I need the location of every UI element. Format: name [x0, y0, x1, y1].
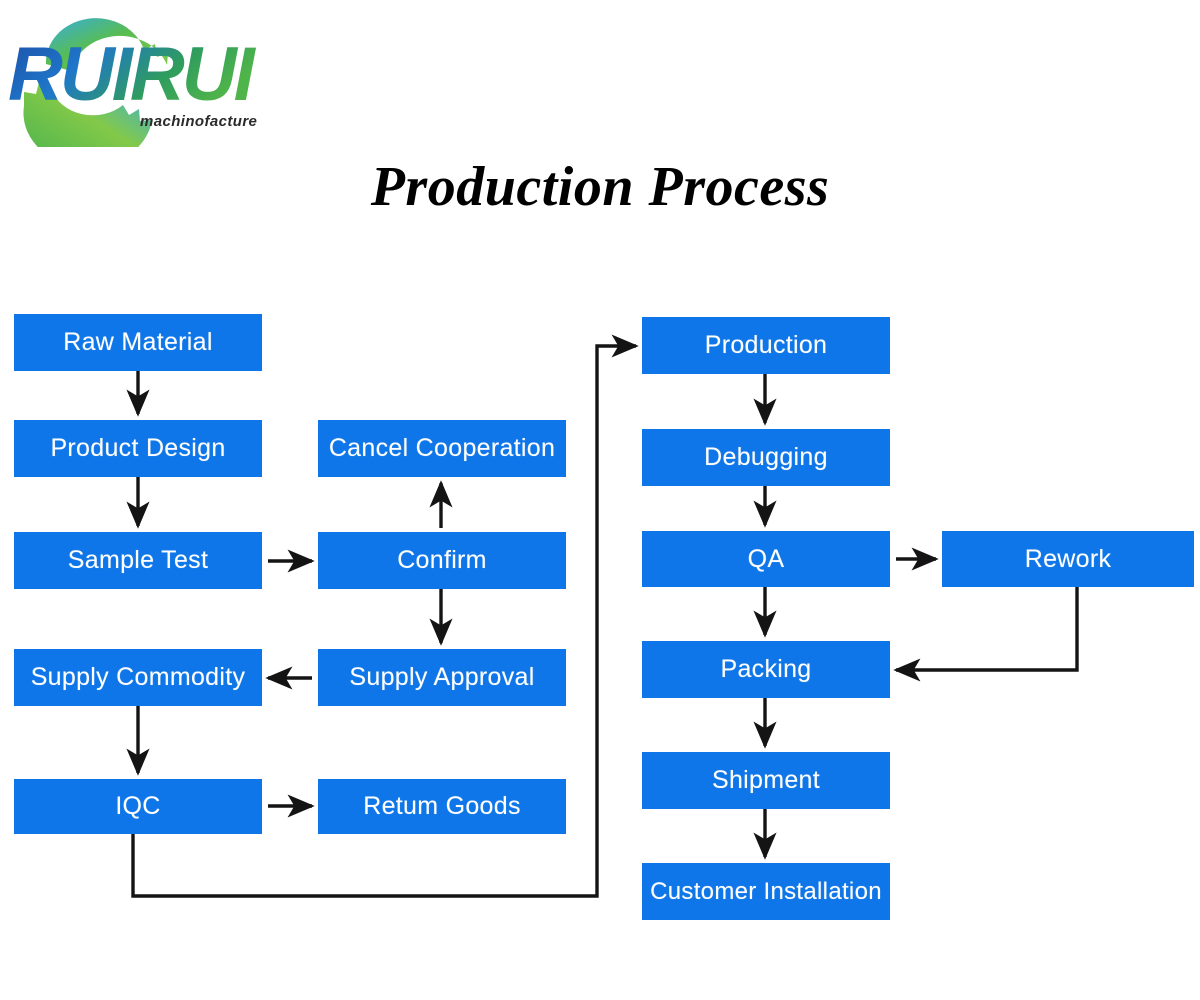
node-supply-commodity[interactable]: Supply Commodity — [14, 649, 262, 706]
logo-wordmark: RUIRUI — [8, 32, 257, 117]
node-product-design[interactable]: Product Design — [14, 420, 262, 477]
logo-graphic: RUIRUI machinofacture — [0, 2, 290, 147]
node-customer-installation[interactable]: Customer Installation — [642, 863, 890, 920]
node-confirm[interactable]: Confirm — [318, 532, 566, 589]
node-raw-material[interactable]: Raw Material — [14, 314, 262, 371]
node-shipment[interactable]: Shipment — [642, 752, 890, 809]
node-packing[interactable]: Packing — [642, 641, 890, 698]
node-rework[interactable]: Rework — [942, 531, 1194, 587]
logo-tagline: machinofacture — [140, 113, 257, 130]
connector-layer — [0, 0, 1200, 1000]
edge-rework-to-packing — [896, 587, 1077, 670]
diagram-canvas: RUIRUI machinofacture Production Process — [0, 0, 1200, 1000]
node-supply-approval[interactable]: Supply Approval — [318, 649, 566, 706]
node-qa[interactable]: QA — [642, 531, 890, 587]
node-cancel-cooperation[interactable]: Cancel Cooperation — [318, 420, 566, 477]
page-title: Production Process — [0, 155, 1200, 219]
node-return-goods[interactable]: Retum Goods — [318, 779, 566, 834]
company-logo: RUIRUI machinofacture — [0, 2, 290, 147]
node-debugging[interactable]: Debugging — [642, 429, 890, 486]
node-sample-test[interactable]: Sample Test — [14, 532, 262, 589]
node-iqc[interactable]: IQC — [14, 779, 262, 834]
node-production[interactable]: Production — [642, 317, 890, 374]
